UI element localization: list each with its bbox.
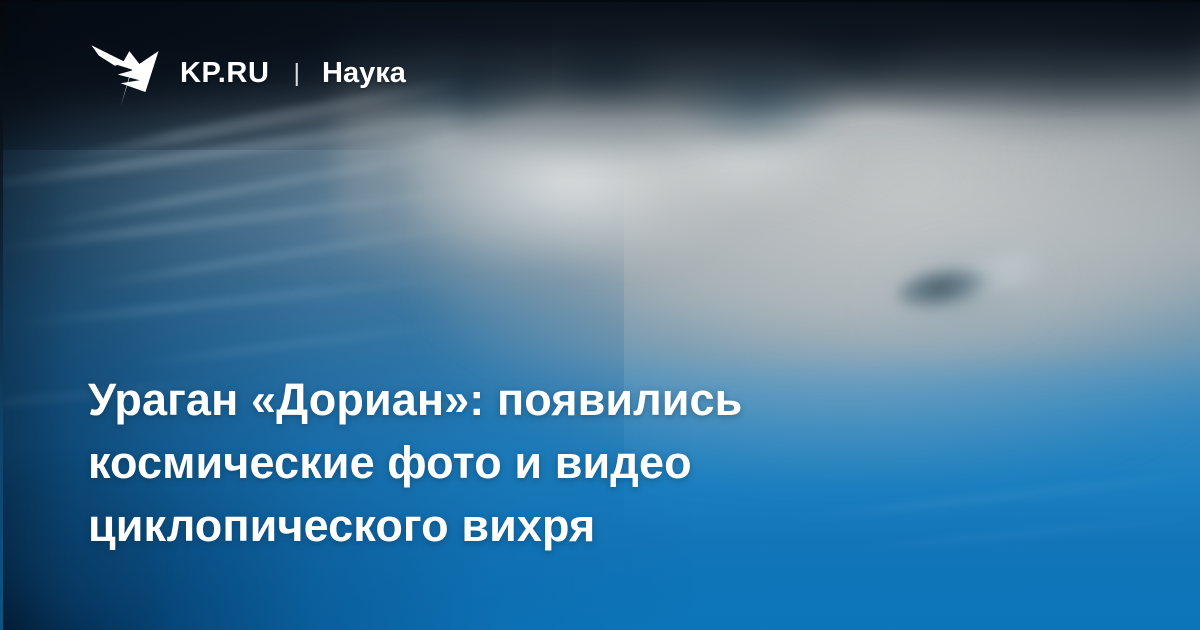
- article-share-card: KP.RU | Наука Ураган «Дориан»: появились…: [0, 0, 1200, 630]
- headline-line-3: циклопического вихря: [88, 494, 1068, 557]
- section-label[interactable]: Наука: [322, 57, 406, 90]
- top-edge-border: [0, 0, 1200, 2]
- left-edge-border: [0, 0, 3, 630]
- swallow-bird-logo-icon[interactable]: [88, 38, 162, 108]
- headline: Ураган «Дориан»: появились космические ф…: [88, 368, 1068, 557]
- headline-line-1: Ураган «Дориан»: появились: [88, 368, 1068, 431]
- headline-line-2: космические фото и видео: [88, 431, 1068, 494]
- card-header: KP.RU | Наука: [88, 38, 406, 108]
- brand-label[interactable]: KP.RU: [180, 57, 270, 90]
- header-separator: |: [294, 61, 301, 86]
